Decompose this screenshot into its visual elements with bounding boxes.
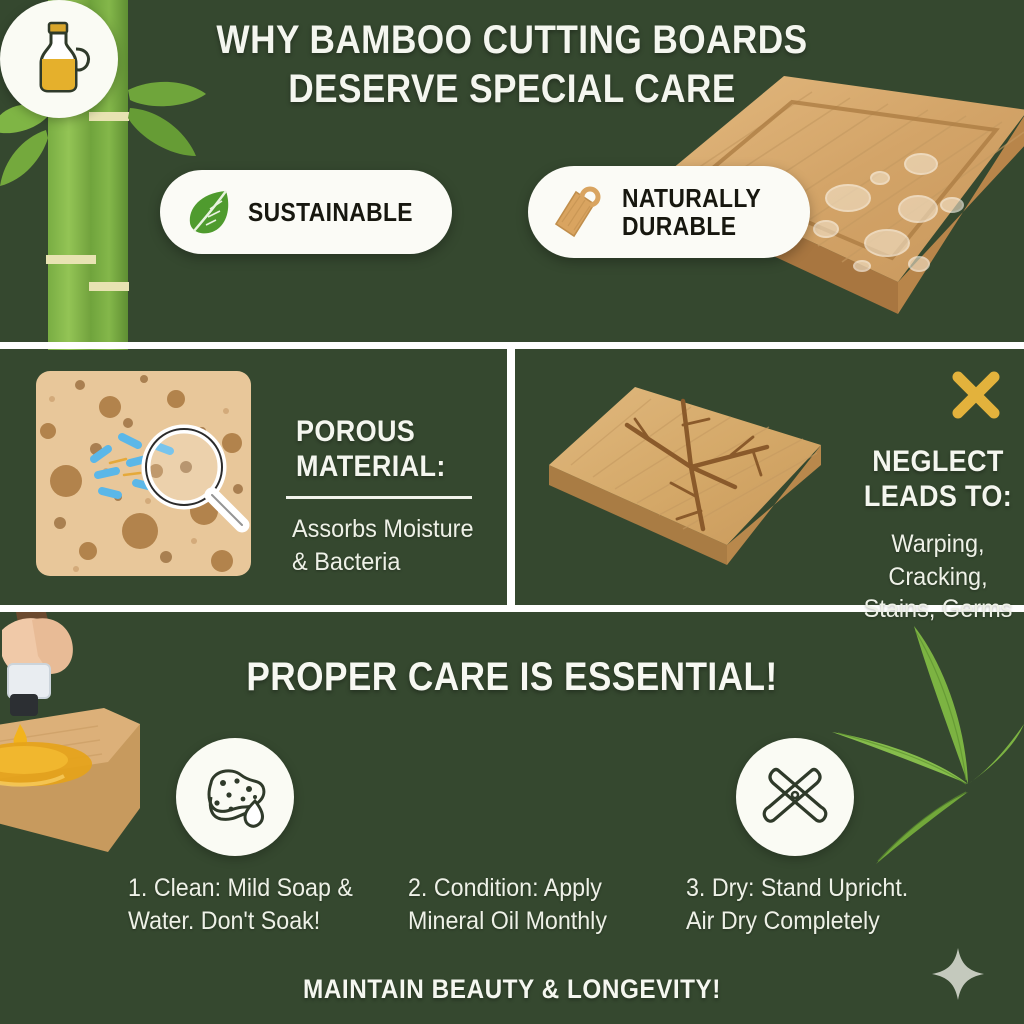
panel-porous-body: Assorbs Moisture & Bacteria [292,513,480,578]
care-step-1-icon-circle[interactable] [176,738,294,856]
x-mark-icon [950,369,1002,426]
care-step-2-caption: 2. Condition: Apply Mineral Oil Monthly [408,872,687,938]
cracked-board-image [531,369,831,584]
panel-neglect-body: Warping, Cracking, Stains, Germs [849,528,1024,626]
leaf-icon [186,187,232,242]
title-line-2: DESERVE SPECIAL CARE [288,67,736,111]
panel-porous: POROUS MATERIAL: Assorbs Moisture & Bact… [0,349,507,605]
sponge-icon [199,759,271,836]
divider-middle-vertical [507,342,515,612]
panel-porous-heading: POROUS MATERIAL: [296,415,476,484]
care-step-3-icon-circle[interactable] [736,738,854,856]
crossed-boards-icon [759,759,831,836]
cutting-board-icon [550,184,608,247]
badge-sustainable-label: SUSTAINABLE [248,198,413,226]
care-step-3-caption: 3. Dry: Stand Upricht. Air Dry Completel… [686,872,974,938]
footer-tagline: MAINTAIN BEAUTY & LONGEVITY! [51,974,973,1005]
oil-bottle-icon [25,21,93,98]
panel-neglect: NEGLECT LEADS TO: Warping, Cracking, Sta… [515,349,1024,605]
care-step-1-caption: 1. Clean: Mild Soap & Water. Don't Soak! [128,872,407,938]
infographic-root: WHY BAMBOO CUTTING BOARDS DESERVE SPECIA… [0,0,1024,1024]
panel-porous-rule [286,496,472,499]
badge-sustainable[interactable]: SUSTAINABLE [160,170,452,254]
panel-neglect-heading: NEGLECT LEADS TO: [853,445,1024,514]
title-line-1: WHY BAMBOO CUTTING BOARDS [216,18,807,62]
badge-naturally-durable-label: NATURALLY DURABLE [622,184,761,240]
badge-naturally-durable[interactable]: NATURALLY DURABLE [528,166,810,258]
care-step-2-icon-circle[interactable] [0,0,118,118]
care-section-heading: PROPER CARE IS ESSENTIAL! [61,655,962,700]
oil-application-image [0,612,188,868]
porous-surface-image [36,371,251,576]
page-title: WHY BAMBOO CUTTING BOARDS DESERVE SPECIA… [61,16,962,114]
